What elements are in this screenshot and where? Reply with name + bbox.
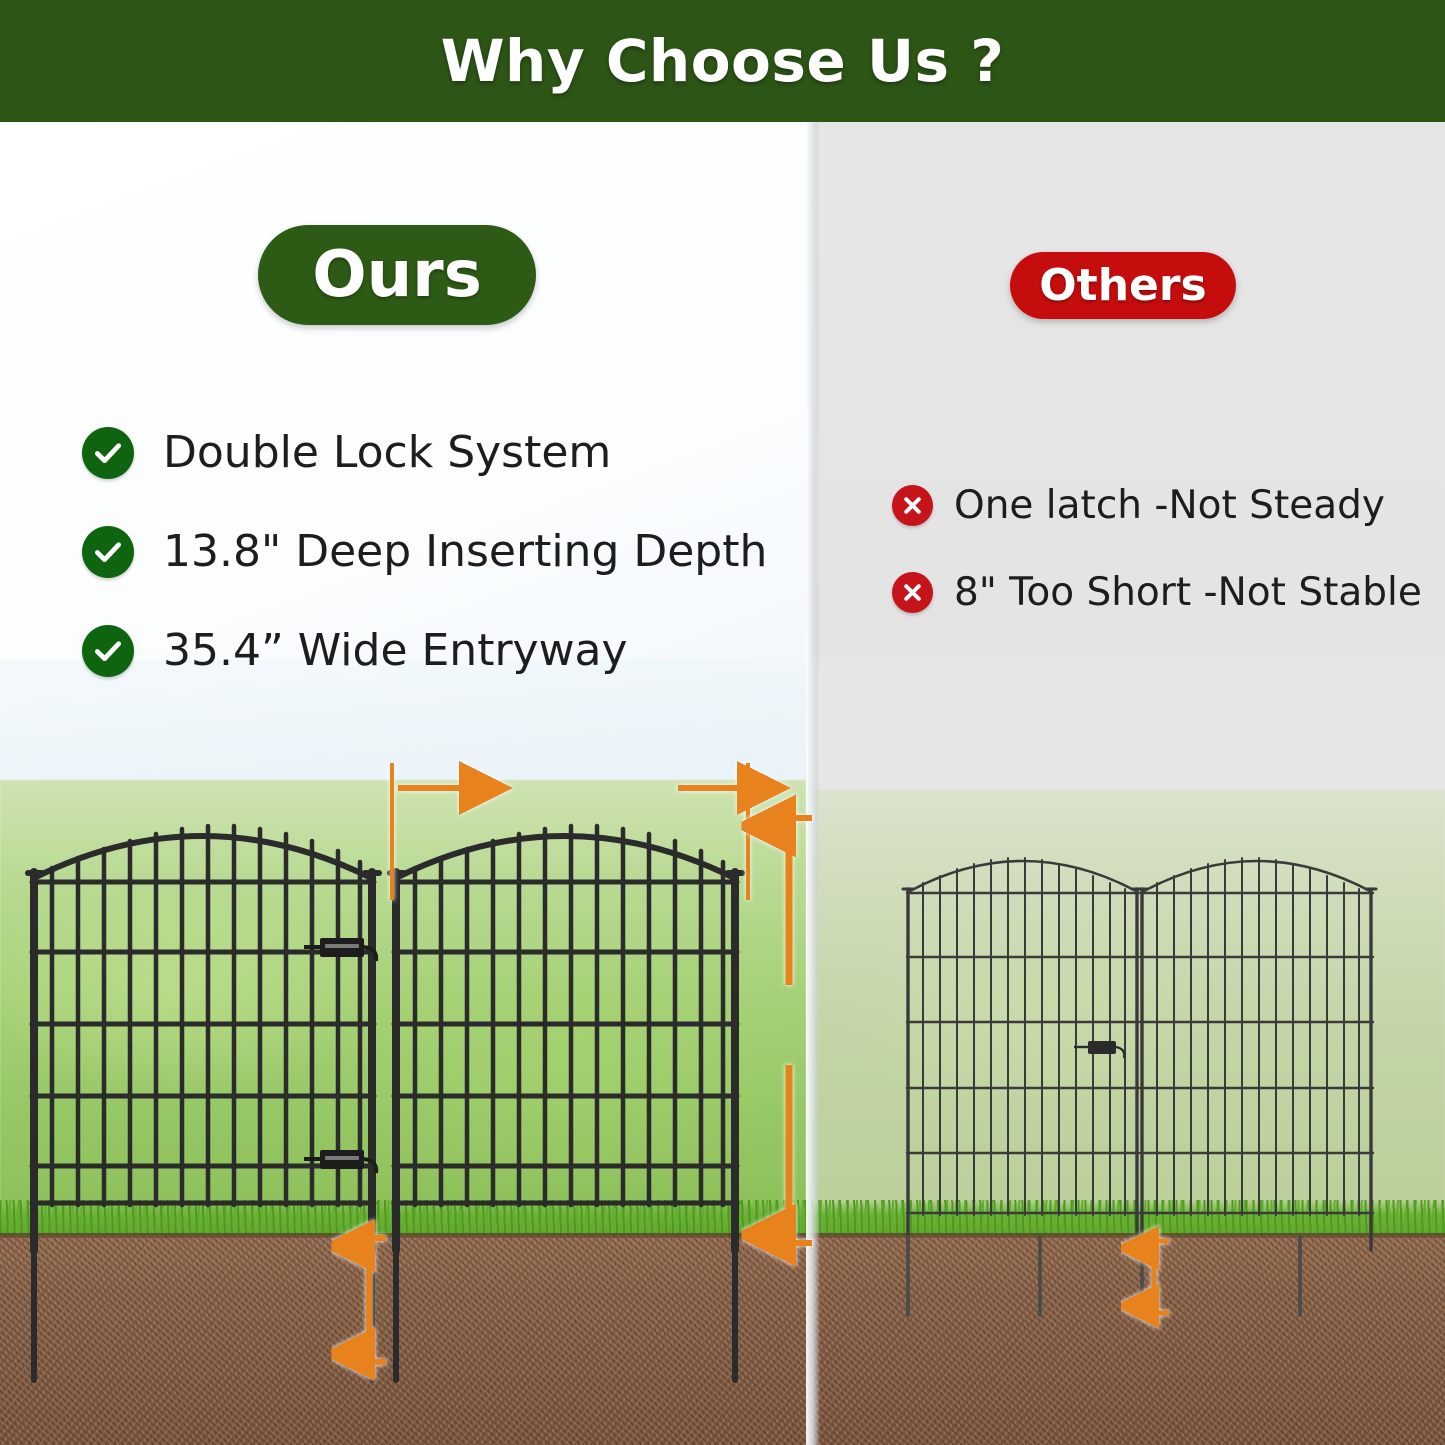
depth-dimension-8 bbox=[1139, 1241, 1169, 1313]
height-dimension-43-2 bbox=[768, 818, 812, 1243]
infographic-stage: Why Choose Us ? bbox=[0, 0, 1445, 1445]
dimension-overlay bbox=[0, 0, 1445, 1445]
depth-dimension-13-8 bbox=[352, 1238, 386, 1362]
width-dimension-35-4 bbox=[392, 763, 748, 900]
